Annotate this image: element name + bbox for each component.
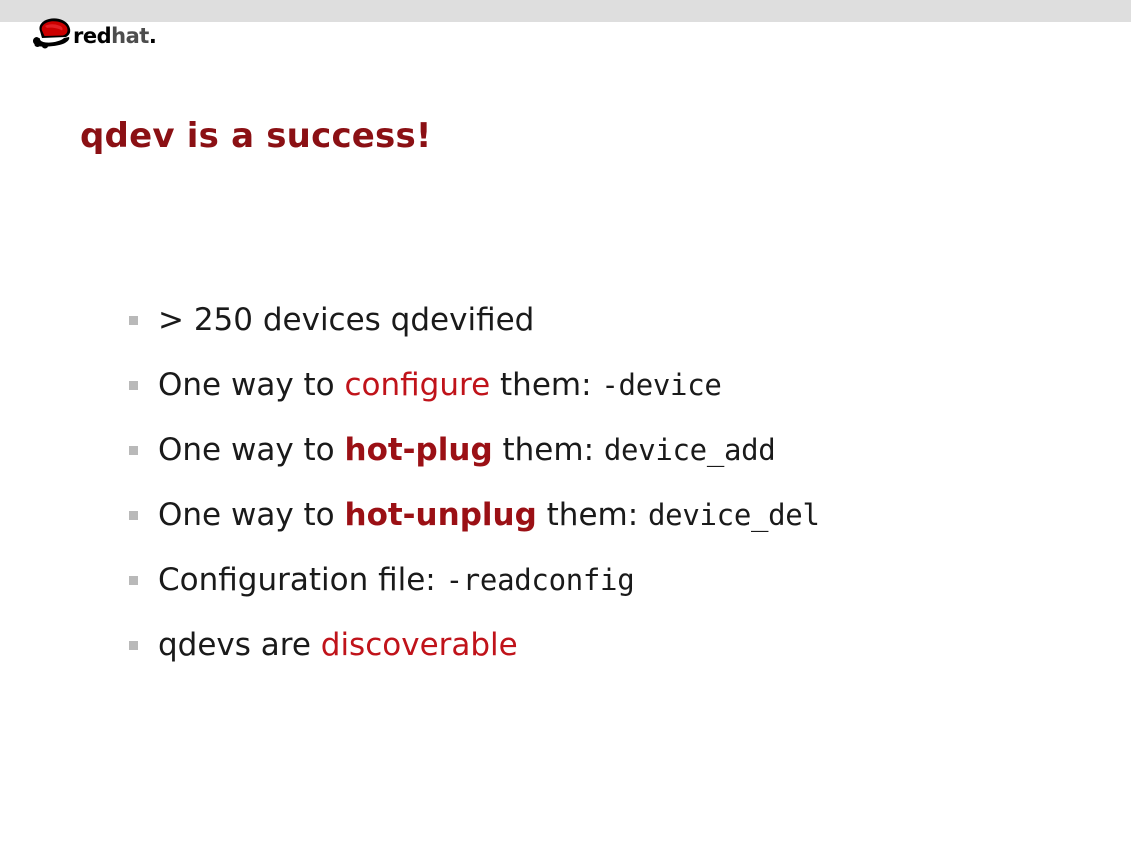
list-item-text: qdevs are [158,627,321,663]
emphasis-text: configure [345,367,491,403]
list-item-text: them: [537,497,648,533]
emphasis-text: hot-plug [345,432,493,468]
list-item: Configuration file: -readconfig [128,548,1088,613]
code-text: -device [601,368,721,402]
list-item-text: Configuration file: [158,562,446,598]
square-bullet-icon [129,446,138,455]
square-bullet-icon [129,576,138,585]
list-item-text: One way to [158,432,345,468]
square-bullet-icon [129,511,138,520]
square-bullet-icon [129,316,138,325]
square-bullet-icon [129,641,138,650]
bullet-list: > 250 devices qdevifiedOne way to config… [128,288,1088,678]
redhat-wordmark: redhat. [73,26,156,47]
logo-word-red: red [73,24,111,48]
code-text: device_add [604,433,776,467]
emphasis-text: hot-unplug [345,497,537,533]
logo-word-dot: . [149,24,156,48]
code-text: -readconfig [446,563,635,597]
list-item: One way to configure them: -device [128,353,1088,418]
list-item-text: > 250 devices qdevified [158,302,534,338]
page-title: qdev is a success! [80,116,432,156]
list-item-text: One way to [158,367,345,403]
list-item-text: them: [493,432,604,468]
redhat-logo: redhat. [30,16,156,50]
top-band [0,0,1131,22]
list-item-text: One way to [158,497,345,533]
square-bullet-icon [129,381,138,390]
code-text: device_del [648,498,820,532]
list-item: One way to hot-plug them: device_add [128,418,1088,483]
redhat-shadowman-icon [30,16,76,50]
list-item: One way to hot-unplug them: device_del [128,483,1088,548]
emphasis-text: discoverable [321,627,518,663]
logo-word-hat: hat [111,24,149,48]
list-item: > 250 devices qdevified [128,288,1088,353]
list-item: qdevs are discoverable [128,613,1088,678]
list-item-text: them: [490,367,601,403]
